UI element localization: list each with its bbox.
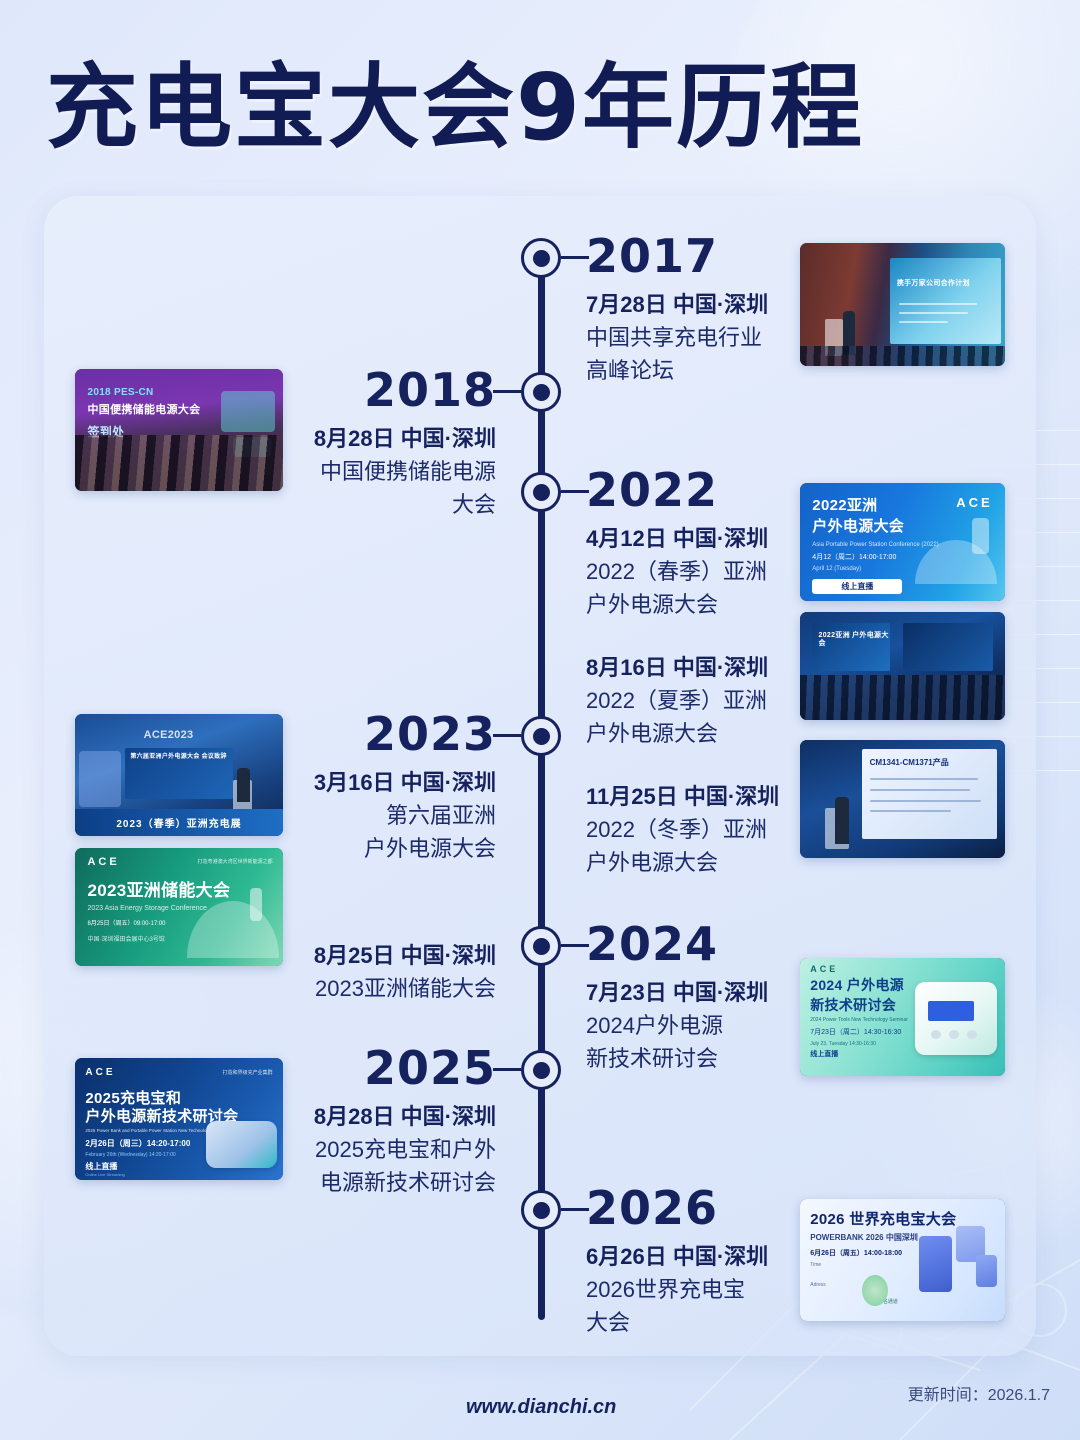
timeline-entry-2018[interactable]: 2018 8月28日 中国·深圳 中国便携储能电源 大会 bbox=[314, 366, 496, 521]
entry-year: 2023 bbox=[314, 710, 496, 758]
event-name-line1: 2023亚洲储能大会 bbox=[314, 972, 496, 1005]
photo-2017-forum[interactable]: 携手万家公司合作计划 bbox=[800, 243, 1005, 366]
event-name-line1: 第六届亚洲 bbox=[314, 799, 496, 832]
event-name-line2: 户外电源大会 bbox=[314, 832, 496, 865]
banner-title: 2018 PES-CN bbox=[87, 387, 153, 399]
event-name-line1: 2026世界充电宝 bbox=[586, 1273, 768, 1306]
poster-date-en: February 26th (Wednesday) 14:20-17:00 bbox=[85, 1152, 175, 1158]
hall-logo: ACE2023 bbox=[144, 729, 194, 742]
poster-subtitle: 2024 Power Tools New Technology Seminar bbox=[810, 1017, 908, 1023]
photo-2022-summer-hall[interactable]: 2022亚洲 户外电源大会 bbox=[800, 612, 1005, 720]
screen-headline: 携手万家公司合作计划 bbox=[897, 280, 970, 288]
event-name-line2: 大会 bbox=[314, 488, 496, 521]
poster-title: 2026 世界充电宝大会 bbox=[810, 1211, 956, 1228]
entry-event: 8月25日 中国·深圳 2023亚洲储能大会 bbox=[314, 939, 496, 1005]
timeline-entry-2025[interactable]: 2025 8月28日 中国·深圳 2025充电宝和户外 电源新技术研讨会 bbox=[314, 1044, 496, 1199]
timeline-node-2017[interactable] bbox=[521, 238, 561, 278]
photo-2018-pes-cn[interactable]: 2018 PES-CN 中国便携储能电源大会 签到处 bbox=[75, 369, 283, 491]
timeline-node-2018[interactable] bbox=[521, 372, 561, 412]
timeline-tick-2026 bbox=[561, 1208, 589, 1211]
updated-timestamp: 更新时间：2026.1.7 bbox=[908, 1381, 1050, 1405]
ace-logo: ACE bbox=[810, 964, 838, 974]
poster-venue: 中国·深圳福田会展中心3号馆 bbox=[87, 937, 164, 944]
timeline-entry-2023[interactable]: 2023 3月16日 中国·深圳 第六届亚洲 户外电源大会 8月25日 中国·深… bbox=[314, 710, 496, 1005]
timeline-tick-2023 bbox=[493, 734, 521, 737]
timeline-node-2026[interactable] bbox=[521, 1190, 561, 1230]
stage-screen: 第六届亚洲户外电源大会 会议致辞 bbox=[125, 748, 233, 799]
poster-date-en: July 23, Tuesday 14:30-16:30 bbox=[810, 1041, 876, 1047]
poster-date-cn: 2月26日（周三）14:20-17:00 bbox=[85, 1139, 190, 1149]
timeline-node-2025[interactable] bbox=[521, 1050, 561, 1090]
poster-live-badge: 线上直播 bbox=[810, 1051, 838, 1059]
entry-event: 4月12日 中国·深圳 2022（春季）亚洲 户外电源大会 bbox=[586, 522, 779, 621]
power-station-illustration bbox=[915, 982, 997, 1055]
timeline-entry-2017[interactable]: 2017 7月28日 中国·深圳 中国共享充电行业 高峰论坛 bbox=[586, 232, 768, 387]
entry-year: 2025 bbox=[314, 1044, 496, 1092]
timeline-entry-2022[interactable]: 2022 4月12日 中国·深圳 2022（春季）亚洲 户外电源大会 8月16日… bbox=[586, 466, 779, 879]
poster-date-cn: 4月12（周二）14:00-17:00 bbox=[812, 554, 896, 562]
timeline-node-2022[interactable] bbox=[521, 472, 561, 512]
entry-event: 11月25日 中国·深圳 2022（冬季）亚洲 户外电源大会 bbox=[586, 780, 779, 879]
event-date: 8月16日 中国·深圳 bbox=[586, 651, 779, 684]
event-date: 8月28日 中国·深圳 bbox=[314, 1100, 496, 1133]
timeline-entry-2024[interactable]: 2024 7月23日 中国·深圳 2024户外电源 新技术研讨会 bbox=[586, 920, 768, 1075]
entry-year: 2024 bbox=[586, 920, 768, 968]
entry-year: 2022 bbox=[586, 466, 779, 514]
entry-year: 2018 bbox=[314, 366, 496, 414]
ace-logo: ACE bbox=[87, 856, 119, 868]
entry-year: 2026 bbox=[586, 1184, 768, 1232]
poster-date-cn: 6月26日（周五）14:00-18:00 bbox=[810, 1250, 902, 1258]
poster-live-badge: 线上直播 bbox=[812, 579, 902, 594]
entry-event: 7月23日 中国·深圳 2024户外电源 新技术研讨会 bbox=[586, 976, 768, 1075]
entry-event: 3月16日 中国·深圳 第六届亚洲 户外电源大会 bbox=[314, 766, 496, 865]
poster-title-line1: 2022亚洲 bbox=[812, 497, 877, 514]
event-name-line2: 新技术研讨会 bbox=[586, 1042, 768, 1075]
event-date: 7月28日 中国·深圳 bbox=[586, 288, 768, 321]
poster-tagline: 打造和界级充产业集群 bbox=[223, 1070, 273, 1076]
event-name-line1: 2022（冬季）亚洲 bbox=[586, 813, 779, 846]
entry-event: 8月28日 中国·深圳 中国便携储能电源 大会 bbox=[314, 422, 496, 521]
banner-subtitle: 中国便携储能电源大会 bbox=[87, 404, 200, 417]
event-name-line1: 中国便携储能电源 bbox=[314, 455, 496, 488]
event-date: 4月12日 中国·深圳 bbox=[586, 522, 779, 555]
timeline-tick-2018 bbox=[493, 390, 521, 393]
timeline-tick-2024 bbox=[561, 944, 589, 947]
timeline-entry-2026[interactable]: 2026 6月26日 中国·深圳 2026世界充电宝 大会 bbox=[586, 1184, 768, 1339]
entry-event: 7月28日 中国·深圳 中国共享充电行业 高峰论坛 bbox=[586, 288, 768, 387]
event-date: 8月28日 中国·深圳 bbox=[314, 422, 496, 455]
poster-date-en: April 12 (Tuesday) bbox=[812, 566, 861, 573]
screen-title: 第六届亚洲户外电源大会 会议致辞 bbox=[130, 754, 226, 761]
event-name-line1: 2022（春季）亚洲 bbox=[586, 555, 779, 588]
poster-2024-seminar[interactable]: ACE 2024 户外电源 新技术研讨会 2024 Power Tools Ne… bbox=[800, 958, 1005, 1076]
event-name-line2: 电源新技术研讨会 bbox=[314, 1166, 496, 1199]
event-date: 11月25日 中国·深圳 bbox=[586, 780, 779, 813]
event-name-line2: 户外电源大会 bbox=[586, 846, 779, 879]
entry-event: 8月28日 中国·深圳 2025充电宝和户外 电源新技术研讨会 bbox=[314, 1100, 496, 1199]
poster-2022-spring[interactable]: 2022亚洲 户外电源大会 Asia Portable Power Statio… bbox=[800, 483, 1005, 601]
photo-2023-spring-hall[interactable]: ACE2023 第六届亚洲户外电源大会 会议致辞 2023（春季）亚洲充电展 bbox=[75, 714, 283, 836]
poster-date: 8月25日（周五）09:00-17:00 bbox=[87, 921, 165, 928]
ace-logo: ACE bbox=[85, 1067, 115, 1078]
poster-title-line1: 2024 户外电源 bbox=[810, 977, 904, 993]
poster-address-label: Adress bbox=[810, 1282, 826, 1288]
event-name-line1: 中国共享充电行业 bbox=[586, 321, 768, 354]
event-date: 3月16日 中国·深圳 bbox=[314, 766, 496, 799]
poster-subtitle: POWERBANK 2026 中国深圳 bbox=[810, 1233, 918, 1243]
event-name-line1: 2024户外电源 bbox=[586, 1009, 768, 1042]
event-name-line1: 2022（夏季）亚洲 bbox=[586, 684, 779, 717]
event-date: 6月26日 中国·深圳 bbox=[586, 1240, 768, 1273]
poster-subtitle: Asia Portable Power Station Conference (… bbox=[812, 542, 938, 549]
event-name-line1: 2025充电宝和户外 bbox=[314, 1133, 496, 1166]
ace-logo: ACE bbox=[956, 495, 992, 510]
poster-subtitle: 2023 Asia Energy Storage Conference bbox=[87, 905, 206, 913]
timeline-node-2023[interactable] bbox=[521, 716, 561, 756]
event-name-line2: 户外电源大会 bbox=[586, 717, 779, 750]
slide-title: CM1341-CM1371产品 bbox=[870, 757, 949, 768]
poster-tagline: 打造粤港澳大湾区世界新能源之都 bbox=[198, 859, 273, 865]
poster-2026-powerbank[interactable]: 2026 世界充电宝大会 POWERBANK 2026 中国深圳 6月26日（周… bbox=[800, 1199, 1005, 1321]
timeline-tick-2017 bbox=[561, 256, 589, 259]
poster-title: 2023亚洲储能大会 bbox=[87, 881, 230, 901]
website-url[interactable]: www.dianchi.cn bbox=[466, 1396, 616, 1419]
event-name-line2: 高峰论坛 bbox=[586, 354, 768, 387]
event-date: 7月23日 中国·深圳 bbox=[586, 976, 768, 1009]
stage-screen: 携手万家公司合作计划 bbox=[890, 258, 1001, 344]
poster-2023-storage[interactable]: ACE 打造粤港澳大湾区世界新能源之都 2023亚洲储能大会 2023 Asia… bbox=[75, 848, 283, 966]
poster-title-line2: 新技术研讨会 bbox=[810, 997, 896, 1013]
poster-date-cn: 7月23日（周二）14:30-16:30 bbox=[810, 1029, 901, 1037]
event-name-line2: 大会 bbox=[586, 1306, 768, 1339]
hall-screen-left: 2022亚洲 户外电源大会 bbox=[812, 623, 890, 672]
entry-event: 8月16日 中国·深圳 2022（夏季）亚洲 户外电源大会 bbox=[586, 651, 779, 750]
poster-live-badge: 线上直播 bbox=[85, 1162, 117, 1172]
poster-2025-seminar[interactable]: ACE 打造和界级充产业集群 2025充电宝和 户外电源新技术研讨会 2025 … bbox=[75, 1058, 283, 1180]
floor-banner: 2023（春季）亚洲充电展 bbox=[75, 809, 283, 836]
photo-2022-winter-talk[interactable]: CM1341-CM1371产品 bbox=[800, 740, 1005, 858]
event-date: 8月25日 中国·深圳 bbox=[314, 939, 496, 972]
poster-time-label: Time bbox=[810, 1262, 821, 1268]
entry-year: 2017 bbox=[586, 232, 768, 280]
timeline-tick-2022 bbox=[561, 490, 589, 493]
poster-live-badge-en: Online Live Streaming bbox=[85, 1173, 124, 1178]
event-name-line2: 户外电源大会 bbox=[586, 588, 779, 621]
page-title: 充电宝大会9年历程 bbox=[46, 62, 864, 154]
poster-title-line2: 户外电源大会 bbox=[812, 518, 904, 535]
poster-title-line1: 2025充电宝和 bbox=[85, 1090, 181, 1107]
slide-screen: CM1341-CM1371产品 bbox=[862, 749, 997, 839]
timeline-node-2024[interactable] bbox=[521, 926, 561, 966]
device-illustration bbox=[206, 1121, 277, 1167]
entry-event: 6月26日 中国·深圳 2026世界充电宝 大会 bbox=[586, 1240, 768, 1339]
timeline-tick-2025 bbox=[493, 1068, 521, 1071]
screen-title: 2022亚洲 户外电源大会 bbox=[819, 632, 891, 648]
